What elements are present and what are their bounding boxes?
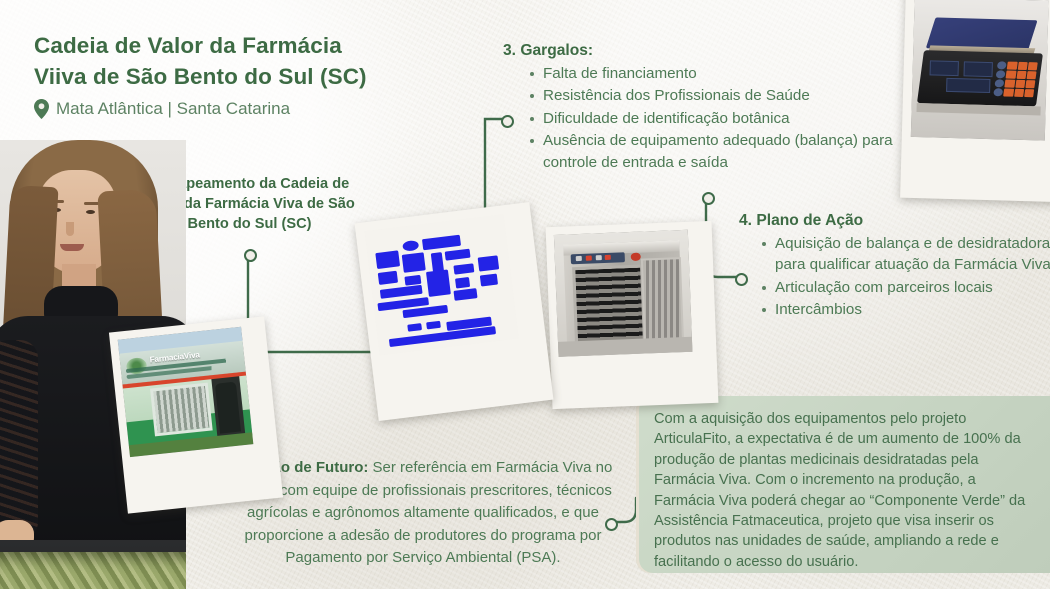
- digital-scale-photo: [900, 0, 1050, 202]
- location-label: Mata Atlântica | Santa Catarina: [56, 99, 290, 119]
- gargalos-item: Falta de financiamento: [527, 63, 903, 85]
- visao-de-futuro-block: 2. Visão de Futuro: Ser referência em Fa…: [232, 457, 614, 570]
- plano-list: Aquisição de balança e de desidratadora …: [759, 233, 1050, 321]
- dehydrator-photo: [546, 221, 719, 409]
- page-title-line2: Viiva de São Bento do Sul (SC): [34, 64, 367, 89]
- plano-item: Articulação com parceiros locais: [759, 277, 1050, 299]
- scale-keypad-icon: [993, 61, 1038, 97]
- redacted-graphic-image: [365, 214, 519, 355]
- digital-scale-image: [911, 0, 1049, 141]
- gargalos-item: Resistência dos Profissionais de Saúde: [527, 85, 903, 107]
- farmacia-viva-image: FarmaciaViva: [118, 327, 254, 457]
- plano-item: Aquisição de balança e de desidratadora …: [759, 233, 1050, 276]
- dried-leaves-in-crate: [0, 552, 186, 589]
- gargalos-list: Falta de financiamento Resistência dos P…: [527, 63, 903, 174]
- gargalos-item: Dificuldade de identificação botânica: [527, 108, 903, 130]
- blue-redaction-blocks: [365, 214, 519, 355]
- gargalos-heading: 3. Gargalos:: [503, 40, 903, 62]
- dehydrator-image: [554, 230, 693, 357]
- articulafito-callout-panel: Com a aquisição dos equipamentos pelo pr…: [636, 396, 1050, 573]
- plano-item: Intercâmbios: [759, 299, 1050, 321]
- page-title-line1: Cadeia de Valor da Farmácia: [34, 33, 342, 58]
- plano-heading: 4. Plano de Ação: [739, 210, 1050, 232]
- farmacia-viva-photo: FarmaciaViva: [109, 316, 283, 513]
- callout-text: Com a aquisição dos equipamentos pelo pr…: [636, 396, 1050, 572]
- redacted-graphic-photo: [355, 202, 554, 421]
- plano-de-acao-block: 4. Plano de Ação Aquisição de balança e …: [739, 210, 1050, 322]
- page-title: Cadeia de Valor da Farmácia Viiva de São…: [34, 30, 454, 92]
- map-pin-icon: [34, 99, 49, 119]
- gargalos-item: Ausência de equipamento adequado (balanç…: [527, 130, 903, 173]
- location-row: Mata Atlântica | Santa Catarina: [34, 99, 454, 119]
- gargalos-block: 3. Gargalos: Falta de financiamento Resi…: [503, 40, 903, 174]
- page-title-block: Cadeia de Valor da Farmácia Viiva de São…: [34, 30, 454, 119]
- connector-node-plano: [702, 192, 715, 205]
- connector-node-mapeamento: [244, 249, 257, 262]
